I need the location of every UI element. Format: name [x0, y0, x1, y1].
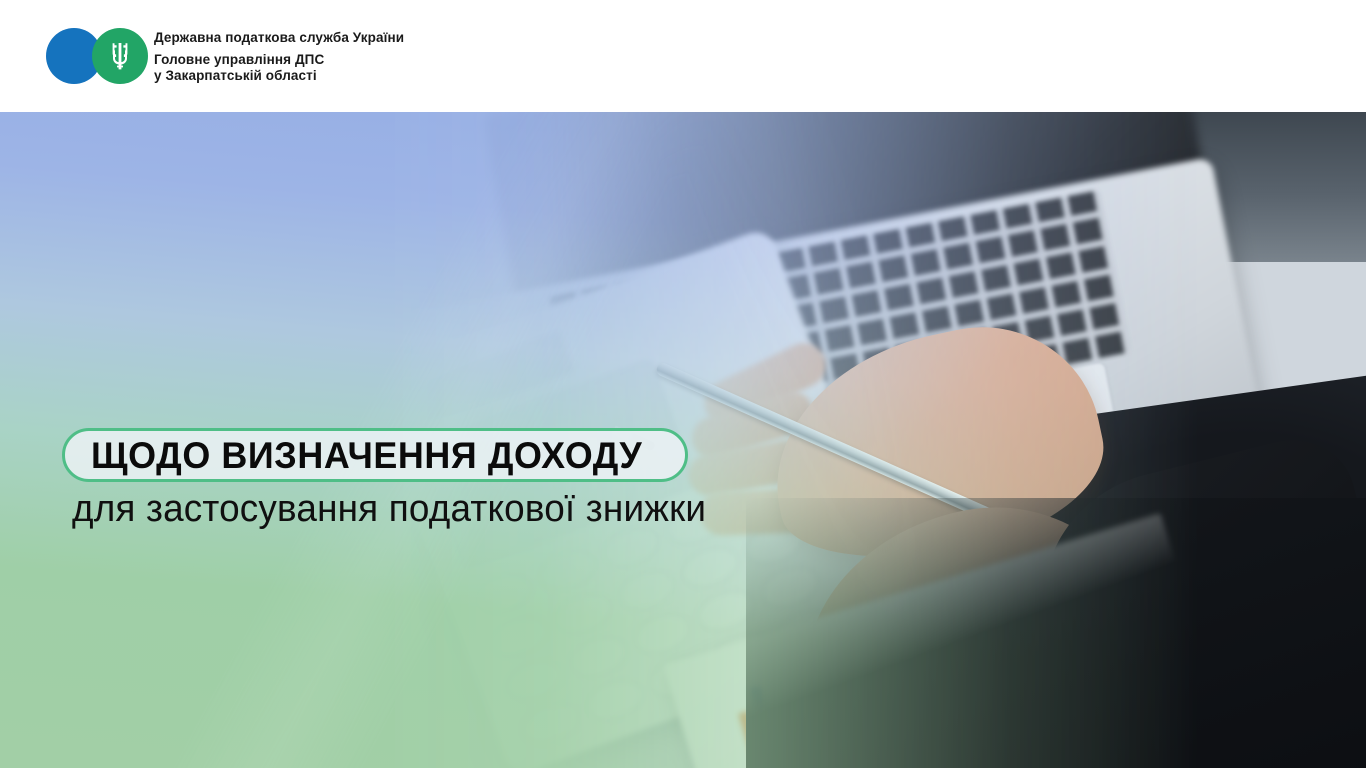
page-title-pill: ЩОДО ВИЗНАЧЕННЯ ДОХОДУ	[62, 428, 688, 482]
logo-marks	[46, 28, 146, 84]
site-header: Державна податкова служба України Головн…	[0, 0, 1366, 112]
ukraine-trident-icon	[107, 41, 133, 71]
org-line-1: Державна податкова служба України	[154, 29, 404, 46]
page-subtitle: для застосування податкової знижки	[72, 487, 706, 533]
person-jacket-bottom	[746, 498, 1366, 768]
org-line-2: Головне управління ДПС	[154, 52, 404, 68]
organisation-name: Державна податкова служба України Головн…	[154, 29, 404, 84]
page-title: ЩОДО ВИЗНАЧЕННЯ ДОХОДУ	[91, 437, 642, 474]
green-circle-icon	[92, 28, 148, 84]
organisation-logo[interactable]: Державна податкова служба України Головн…	[46, 28, 404, 84]
org-line-3: у Закарпатській області	[154, 68, 404, 84]
page-root: Державна податкова служба України Головн…	[0, 0, 1366, 768]
